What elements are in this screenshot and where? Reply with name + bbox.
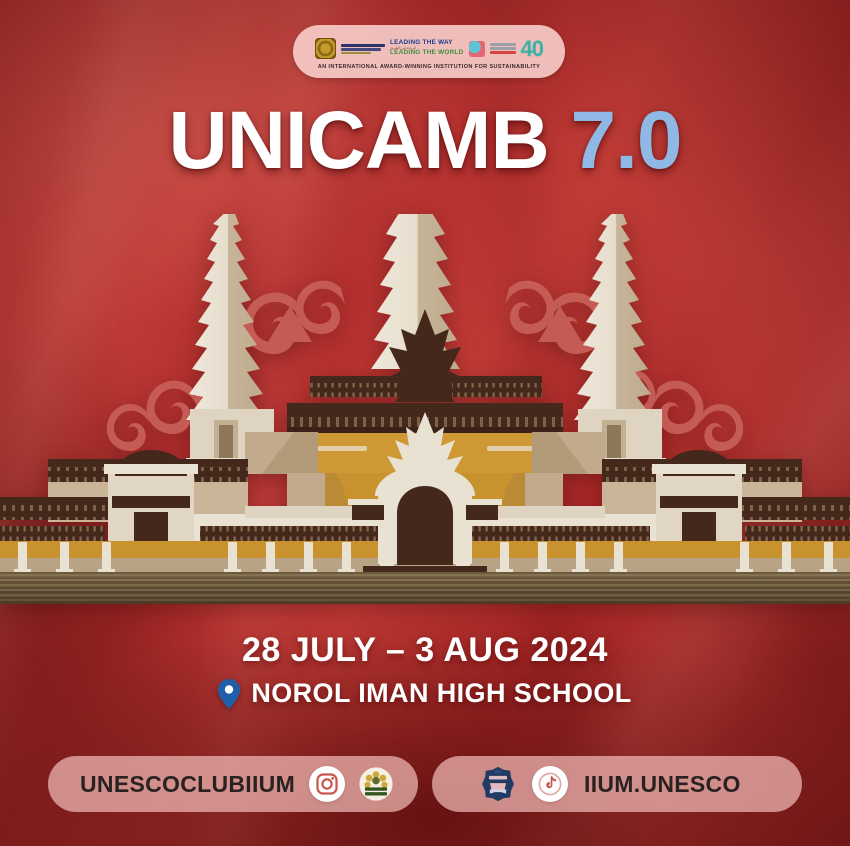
school-crest-badge-icon <box>480 766 516 802</box>
social-pill-left: UNESCOCLUBIIUM <box>48 756 418 812</box>
instagram-handle: UNESCOCLUBIIUM <box>80 771 295 798</box>
event-date: 28 JULY – 3 AUG 2024 <box>0 631 850 670</box>
accreditation-banner: LEADING THE WAY الريادة في الطريق LEADIN… <box>293 25 565 78</box>
unicamb-poster: LEADING THE WAY الريادة في الطريق LEADIN… <box>0 0 850 846</box>
side-tower-right <box>574 214 666 466</box>
sdg-heart-icon <box>469 41 485 57</box>
page-title: UNICAMB 7.0 <box>0 100 850 182</box>
event-venue-row: NOROL IMAN HIGH SCHOOL <box>0 678 850 709</box>
leading-line2: LEADING THE WORLD <box>390 50 463 57</box>
instagram-glyph <box>315 772 339 796</box>
event-venue-name: NOROL IMAN HIGH SCHOOL <box>251 678 631 709</box>
leading-the-way-text: LEADING THE WAY الريادة في الطريق LEADIN… <box>390 40 463 57</box>
iium-crest-icon <box>315 38 336 59</box>
banner-logos-row: LEADING THE WAY الريادة في الطريق LEADIN… <box>293 34 565 64</box>
social-pill-right: IIUM.UNESCO <box>432 756 802 812</box>
iium-wordmark-icon <box>341 44 385 54</box>
instagram-icon[interactable] <box>309 766 345 802</box>
tiktok-handle: IIUM.UNESCO <box>584 771 741 798</box>
title-name: UNICAMB <box>169 95 549 186</box>
tiktok-glyph <box>538 772 562 796</box>
tiktok-icon[interactable] <box>532 766 568 802</box>
social-bar: UNESCOCLUBIIUM <box>0 756 850 818</box>
title-version: 7.0 <box>570 95 681 186</box>
banner-tagline: AN INTERNATIONAL AWARD-WINNING INSTITUTI… <box>293 64 565 70</box>
angkor-wat-illustration <box>0 214 850 604</box>
conserve-heritage-youth-badge-icon <box>359 767 393 801</box>
anniversary-40-icon: 40 <box>521 38 543 60</box>
side-tower-left <box>186 214 278 466</box>
location-pin-icon <box>218 679 240 709</box>
ranking-marks-icon <box>490 43 516 53</box>
